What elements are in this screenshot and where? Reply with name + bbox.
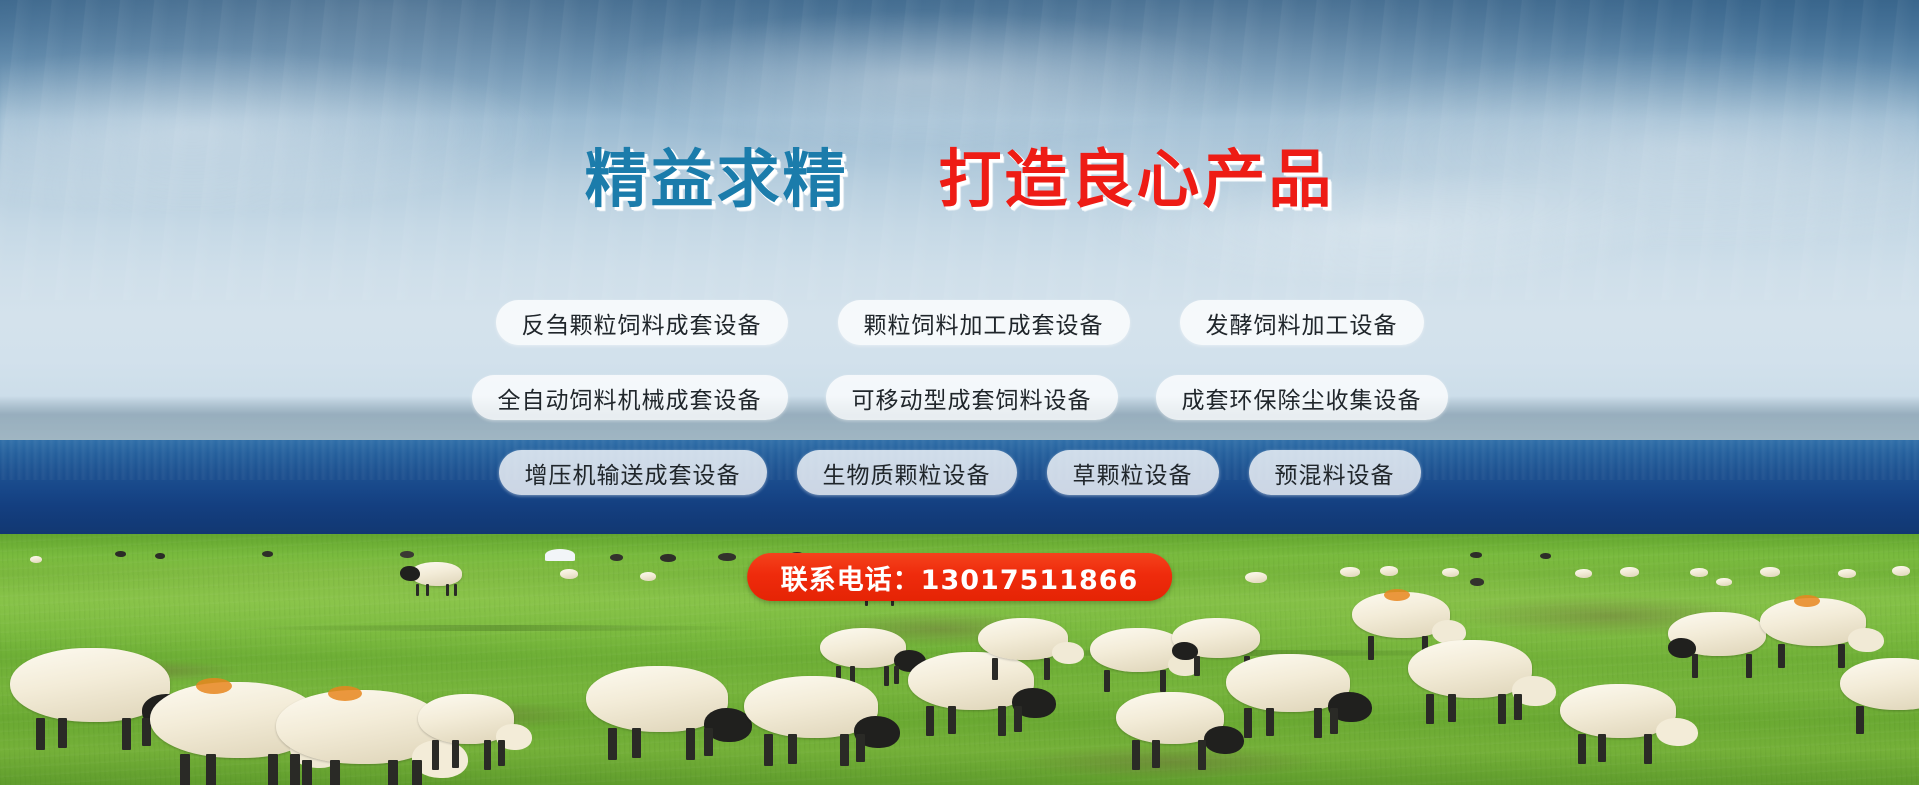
sheep [718, 553, 736, 561]
pill-row-3: 增压机输送成套设备 生物质颗粒设备 草颗粒设备 预混料设备 [499, 450, 1421, 495]
headline-red-text: 打造良心产品 [938, 143, 1334, 216]
sheep [1226, 654, 1376, 742]
sheep [1470, 552, 1482, 558]
sheep [610, 554, 623, 561]
pill-row-1: 反刍颗粒饲料成套设备 颗粒饲料加工成套设备 发酵饲料加工设备 [496, 300, 1424, 345]
pill-row-2: 全自动饲料机械成套设备 可移动型成套饲料设备 成套环保除尘收集设备 [472, 375, 1448, 420]
headline-blue-text: 精益求精 [585, 143, 849, 216]
sheep [262, 551, 273, 557]
contact-phone-banner[interactable]: 联系电话：13017511866 [747, 553, 1173, 601]
contact-phone-text: 联系电话：13017511866 [781, 558, 1139, 597]
sheep [560, 569, 578, 579]
sheep [1340, 567, 1360, 577]
sheep [1470, 578, 1484, 586]
sheep [400, 551, 414, 558]
sheep [1116, 692, 1246, 772]
headline: 精益求精 打造良心产品 [0, 140, 1919, 220]
sheep [1245, 572, 1267, 583]
sheep [30, 556, 42, 563]
sheep [1575, 569, 1592, 578]
sheep [1840, 658, 1919, 738]
hero-banner: 精益求精 打造良心产品 反刍颗粒饲料成套设备 颗粒饲料加工成套设备 发酵饲料加工… [0, 0, 1919, 785]
sheep [640, 572, 656, 581]
sheep [744, 676, 904, 770]
sheep [1892, 566, 1910, 576]
sheep [978, 618, 1088, 682]
sheep [1380, 566, 1398, 576]
sheep [1540, 553, 1551, 559]
sheep [1442, 568, 1459, 577]
sheep [155, 553, 165, 559]
sheep [400, 562, 462, 592]
sheep [418, 694, 538, 778]
sheep [660, 554, 676, 562]
pill-complete-environmental-dust-collection-equipment[interactable]: 成套环保除尘收集设备 [1156, 375, 1448, 420]
sheep [1838, 569, 1856, 578]
pill-biomass-pellet-equipment[interactable]: 生物质颗粒设备 [797, 450, 1017, 495]
sheep [1408, 640, 1558, 728]
sheep [1716, 578, 1732, 586]
pill-premix-equipment[interactable]: 预混料设备 [1249, 450, 1421, 495]
sheep [1560, 684, 1700, 768]
pill-fully-automatic-feed-machinery-complete-equipment[interactable]: 全自动饲料机械成套设备 [472, 375, 788, 420]
pill-ruminant-pellet-feed-complete-equipment[interactable]: 反刍颗粒饲料成套设备 [496, 300, 788, 345]
pill-fermented-feed-processing-equipment[interactable]: 发酵饲料加工设备 [1180, 300, 1424, 345]
sheep [586, 666, 756, 762]
sheep [1690, 568, 1708, 577]
sheep [115, 551, 126, 557]
sheep [1760, 567, 1780, 577]
pill-pellet-feed-processing-complete-equipment[interactable]: 颗粒饲料加工成套设备 [838, 300, 1130, 345]
yurt-tent [545, 549, 575, 561]
sheep [1620, 567, 1639, 577]
pill-grass-pellet-equipment[interactable]: 草颗粒设备 [1047, 450, 1219, 495]
pill-movable-complete-feed-equipment[interactable]: 可移动型成套饲料设备 [826, 375, 1118, 420]
pill-booster-conveying-complete-equipment[interactable]: 增压机输送成套设备 [499, 450, 767, 495]
terrain-ridge [240, 625, 760, 631]
product-category-pill-groups: 反刍颗粒饲料成套设备 颗粒饲料加工成套设备 发酵饲料加工设备 全自动饲料机械成套… [0, 300, 1919, 495]
